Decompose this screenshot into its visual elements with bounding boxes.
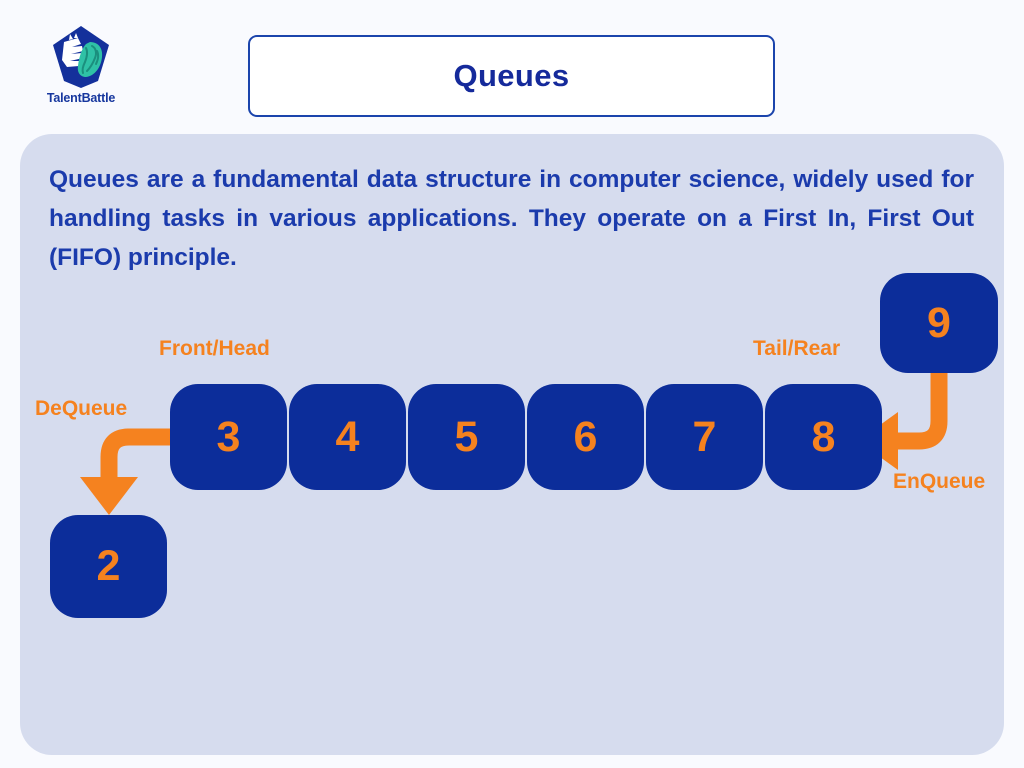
label-dequeue: DeQueue [35, 397, 127, 421]
queue-node: 8 [765, 384, 882, 490]
outgoing-node: 2 [50, 515, 167, 618]
brand-logo: TalentBattle [38, 24, 124, 105]
dequeue-arrow-line [109, 437, 171, 489]
page-title: Queues [453, 58, 569, 94]
page-title-card: Queues [248, 35, 775, 117]
queue-node: 5 [408, 384, 525, 490]
queue-node: 3 [170, 384, 287, 490]
dequeue-arrow-head [80, 477, 138, 515]
label-enqueue: EnQueue [893, 470, 985, 494]
label-tail-rear: Tail/Rear [753, 337, 840, 361]
label-front-head: Front/Head [159, 337, 270, 361]
queue-node: 6 [527, 384, 644, 490]
content-panel: Queues are a fundamental data structure … [20, 134, 1004, 755]
shield-fist-brain-icon [50, 24, 112, 90]
queue-diagram: Front/Head Tail/Rear DeQueue EnQueue 3 4… [20, 134, 1004, 755]
enqueue-arrow-line [895, 373, 939, 441]
queue-node: 4 [289, 384, 406, 490]
incoming-node: 9 [880, 273, 998, 373]
brand-name: TalentBattle [38, 91, 124, 105]
queue-node: 7 [646, 384, 763, 490]
